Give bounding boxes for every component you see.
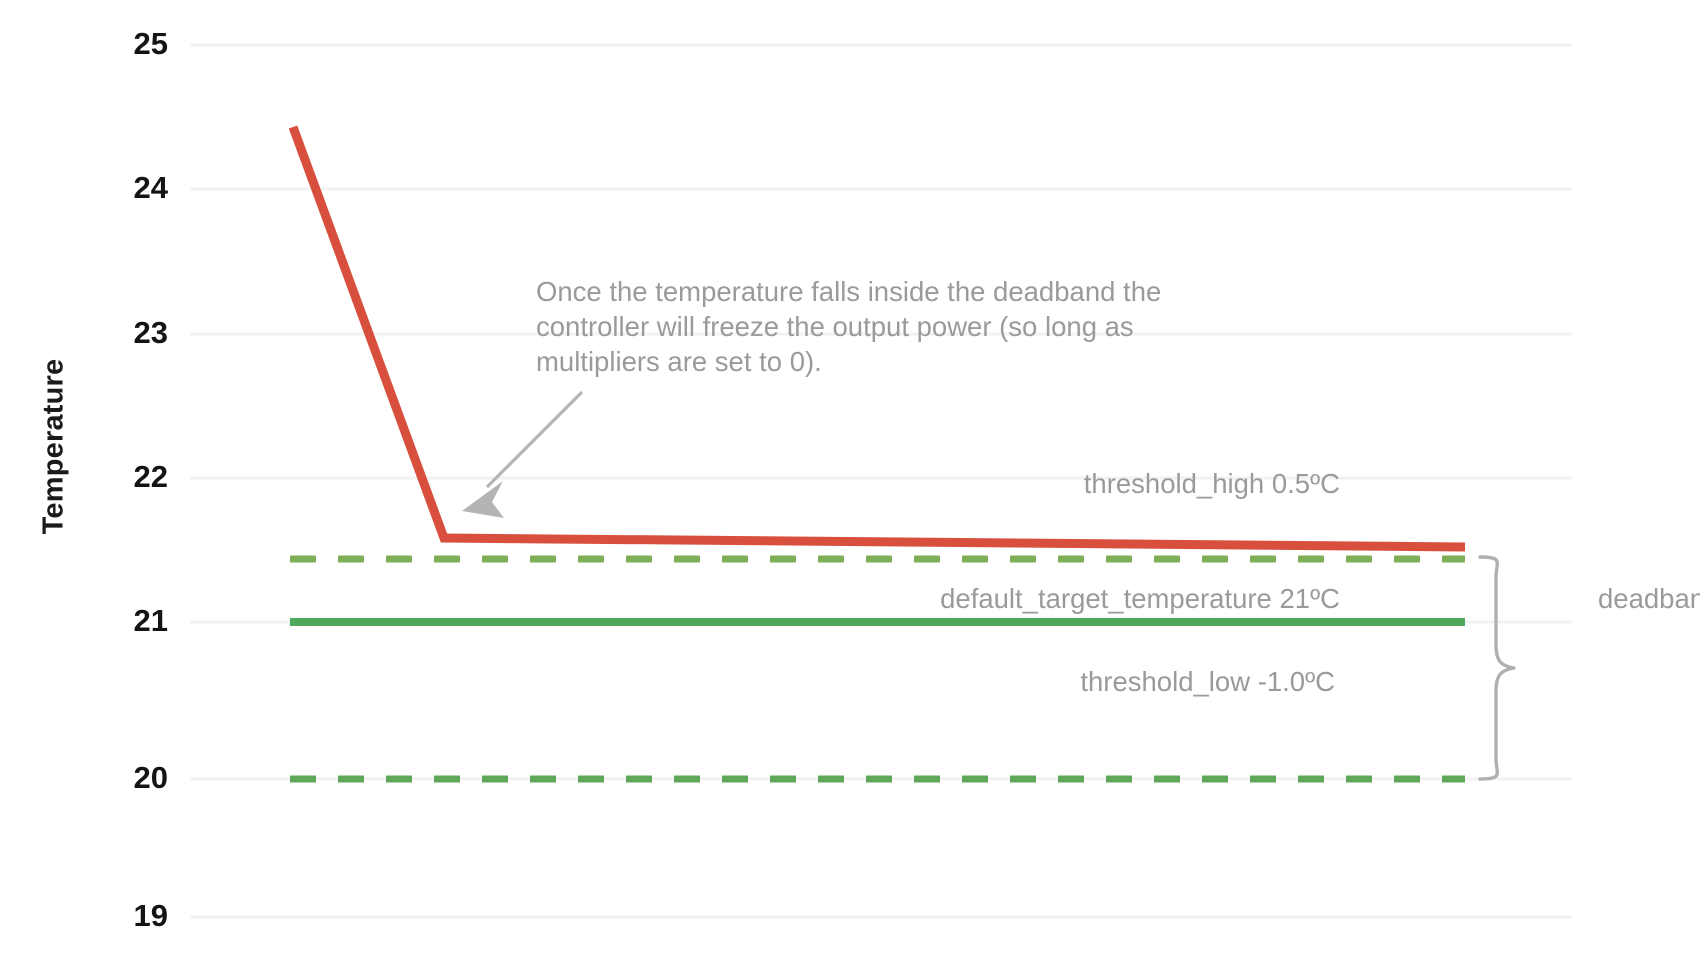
annotation-arrow: [462, 392, 582, 518]
y-axis-title: Temperature: [38, 347, 71, 547]
deadband-label: deadband: [1598, 583, 1700, 615]
threshold-high-label: threshold_high 0.5ºC: [740, 468, 1340, 500]
deadband-note-text: Once the temperature falls inside the de…: [536, 274, 1216, 379]
y-tick-25: 25: [88, 28, 168, 59]
y-tick-21: 21: [88, 605, 168, 636]
default-target-label: default_target_temperature 21ºC: [640, 583, 1340, 615]
y-tick-23: 23: [88, 317, 168, 348]
threshold-low-label: threshold_low -1.0ºC: [740, 666, 1335, 698]
y-tick-22: 22: [88, 461, 168, 492]
y-tick-19: 19: [88, 900, 168, 931]
y-tick-20: 20: [88, 762, 168, 793]
y-tick-24: 24: [88, 172, 168, 203]
deadband-brace: [1480, 557, 1514, 779]
chart-canvas: Temperature 25 24 23 22 21 20 19 Once th…: [0, 0, 1700, 960]
